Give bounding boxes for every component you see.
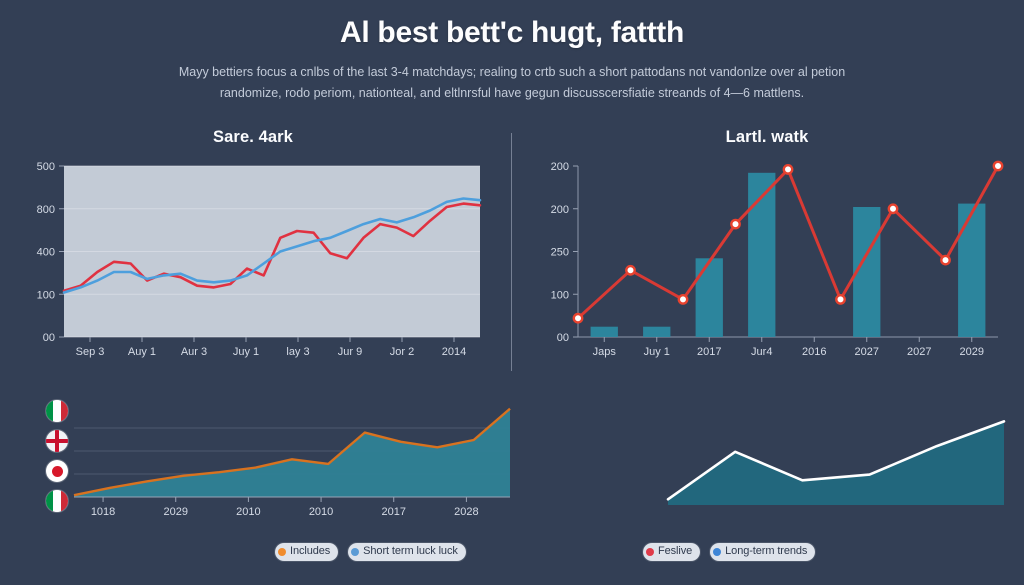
legend-item[interactable]: Long-term trends [710,543,815,561]
data-point-marker [626,266,634,274]
legend-swatch-icon [351,548,359,556]
y-tick-label: 400 [37,247,55,259]
data-point-marker [889,205,897,213]
sparkline-area-svg [620,398,1010,523]
x-tick-label: 2010 [236,506,260,518]
x-tick-label: 1018 [91,506,115,518]
x-tick-label: Japs [593,346,617,358]
overlay-line [578,166,998,318]
chart-left-title: Sare. 4ark [18,128,488,147]
legend-swatch-icon [278,548,286,556]
data-point-marker [994,162,1002,170]
data-point-marker [784,165,792,173]
legend-item[interactable]: Short term luck luck [348,543,466,561]
legend-item[interactable]: Feslive [643,543,700,561]
panel-divider [511,133,512,371]
legend-item-label: Short term luck luck [363,544,458,559]
legend-group-left: IncludesShort term luck luck [275,543,466,561]
chart-panel-left: Sare. 4ark 50080040010000Sep 3Auy 1Aur 3… [18,128,488,373]
legend-item-label: Long-term trends [725,544,807,559]
infographic-page: Al best bett'c hugt, fattth Mayy bettier… [0,0,1024,585]
page-subtitle: Mayy bettiers focus a cnlbs of the last … [62,62,962,104]
x-tick-label: 2010 [309,506,333,518]
x-tick-label: Auy 1 [128,346,156,358]
x-tick-label: 2016 [802,346,826,358]
x-tick-label: 2028 [454,506,478,518]
chart-right-plot: 20020025010000JapsJuy 12017Jur4201620272… [528,160,1006,365]
legend-swatch-icon [713,548,721,556]
bar [643,327,670,337]
header: Al best bett'c hugt, fattth Mayy bettier… [0,0,1024,104]
x-tick-label: 2029 [960,346,984,358]
x-tick-label: Aur 3 [181,346,207,358]
bar [696,258,723,337]
y-tick-label: 100 [551,289,569,301]
page-title: Al best bett'c hugt, fattth [0,14,1024,52]
subtitle-line-1: Mayy bettiers focus a cnlbs of the last … [62,62,962,83]
bar-chart-svg: 20020025010000JapsJuy 12017Jur4201620272… [528,160,1006,365]
x-tick-label: 2017 [697,346,721,358]
x-tick-label: 2017 [381,506,405,518]
chart-panel-bottom-right [620,398,1010,523]
y-tick-label: 100 [37,289,55,301]
data-point-marker [836,295,844,303]
data-point-marker [941,256,949,264]
chart-right-title: Lartl. watk [528,128,1006,147]
chart-left-plot: 50080040010000Sep 3Auy 1Aur 3Juy 1lay 3J… [18,160,488,365]
y-tick-label: 800 [37,204,55,216]
data-point-marker [731,220,739,228]
legend-item-label: Feslive [658,544,692,559]
legend-item-label: Includes [290,544,330,559]
y-tick-label: 500 [37,161,55,173]
legend-group-right: FesliveLong-term trends [643,543,815,561]
x-tick-label: Jor 2 [390,346,414,358]
legend-item[interactable]: Includes [275,543,338,561]
chart-panel-bottom-left: 101820292010201020172028 [18,395,518,525]
y-tick-label: 00 [557,332,569,344]
chart-panel-right: Lartl. watk 20020025010000JapsJuy 12017J… [528,128,1006,373]
x-tick-label: lay 3 [286,346,309,358]
x-tick-label: Jur4 [751,346,772,358]
subtitle-line-2: randomize, rodo periom, nationteal, and … [62,83,962,104]
y-tick-label: 200 [551,204,569,216]
legend-swatch-icon [646,548,654,556]
x-tick-label: Sep 3 [76,346,105,358]
x-tick-label: 2027 [907,346,931,358]
legend-bar: IncludesShort term luck luck FesliveLong… [0,543,1024,567]
y-tick-label: 00 [43,332,55,344]
x-tick-label: 2029 [163,506,187,518]
bar [958,204,985,337]
x-tick-label: Jur 9 [338,346,362,358]
bar [591,327,618,337]
y-tick-label: 200 [551,161,569,173]
x-tick-label: 2014 [442,346,466,358]
x-tick-label: 2027 [855,346,879,358]
area-chart-svg: 101820292010201020172028 [18,395,518,525]
y-tick-label: 250 [551,247,569,259]
line-chart-svg: 50080040010000Sep 3Auy 1Aur 3Juy 1lay 3J… [18,160,488,365]
data-point-marker [679,295,687,303]
x-tick-label: Juy 1 [233,346,259,358]
x-tick-label: Juy 1 [644,346,670,358]
data-point-marker [574,314,582,322]
